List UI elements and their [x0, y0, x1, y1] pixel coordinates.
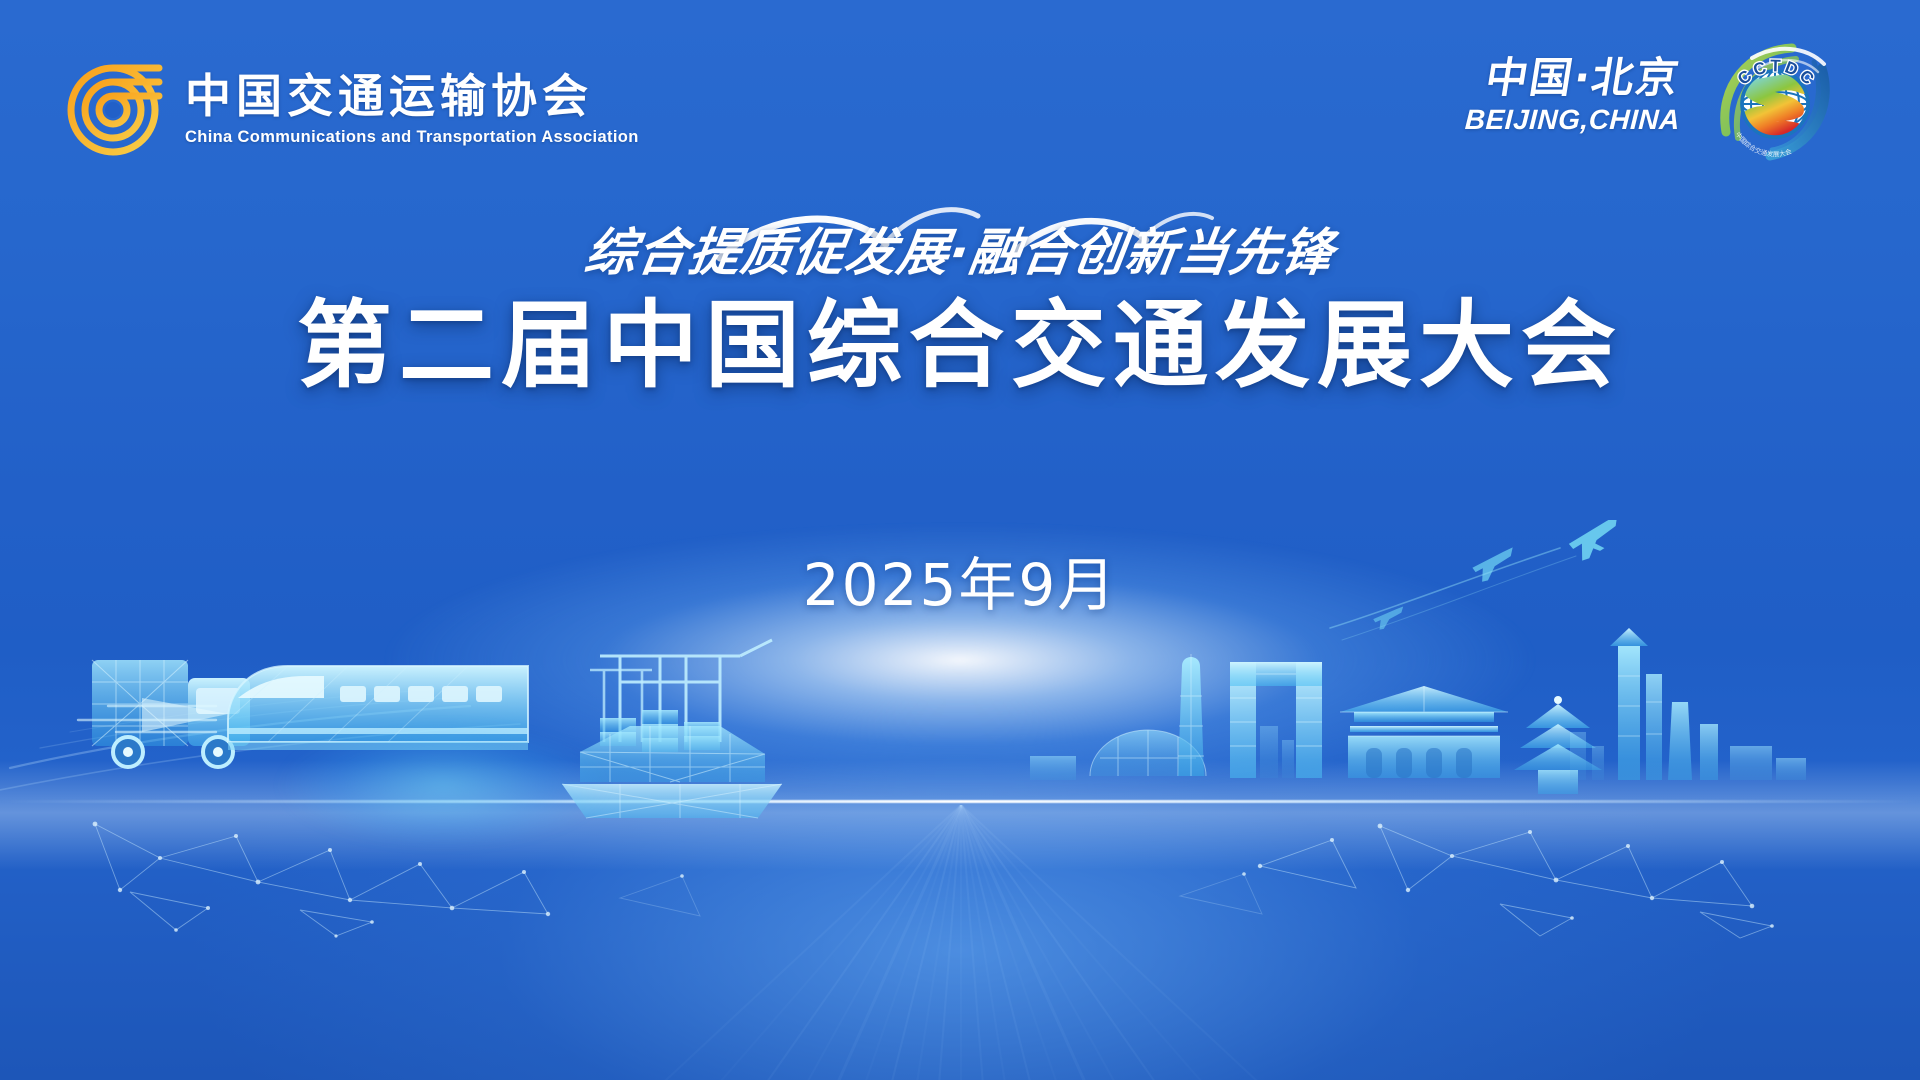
light-streaks-icon	[0, 640, 900, 820]
conference-banner: 中国交通运输协会 China Communications and Transp…	[0, 0, 1920, 1080]
association-logo: 中国交通运输协会 China Communications and Transp…	[55, 52, 639, 164]
association-name-en: China Communications and Transportation …	[185, 128, 639, 147]
location-name-cn: 中国·北京	[1461, 55, 1683, 100]
location-block: 中国·北京 BEIJING,CHINA	[1465, 55, 1680, 136]
transport-scene	[0, 600, 1920, 920]
train-headlight-glow	[250, 690, 710, 880]
page-title: 第二届中国综合交通发展大会	[0, 290, 1920, 402]
horizon-line	[0, 800, 1920, 803]
beijing-skyline-icon	[1030, 628, 1806, 794]
slogan-text: 综合提质促发展·融合创新当先锋	[581, 211, 1340, 285]
high-speed-train-icon	[78, 666, 528, 750]
container-port-icon	[562, 640, 782, 818]
slogan-wrap: 综合提质促发展·融合创新当先锋	[0, 208, 1920, 288]
light-burst-icon	[0, 805, 1920, 1080]
ccta-spiral-logo-icon	[55, 52, 167, 164]
location-name-en: BEIJING,CHINA	[1464, 104, 1681, 136]
event-date: 2025年9月	[0, 538, 1920, 622]
banner-header: 中国交通运输协会 China Communications and Transp…	[0, 0, 1920, 195]
particle-network-icon	[0, 780, 1920, 940]
association-name-cn: 中国交通运输协会	[185, 71, 639, 123]
horizon-haze	[0, 760, 1920, 870]
cctdc-globe-logo-icon: CCTDC 中国综合交通发展大会	[1700, 28, 1845, 173]
cargo-truck-icon	[92, 660, 250, 767]
